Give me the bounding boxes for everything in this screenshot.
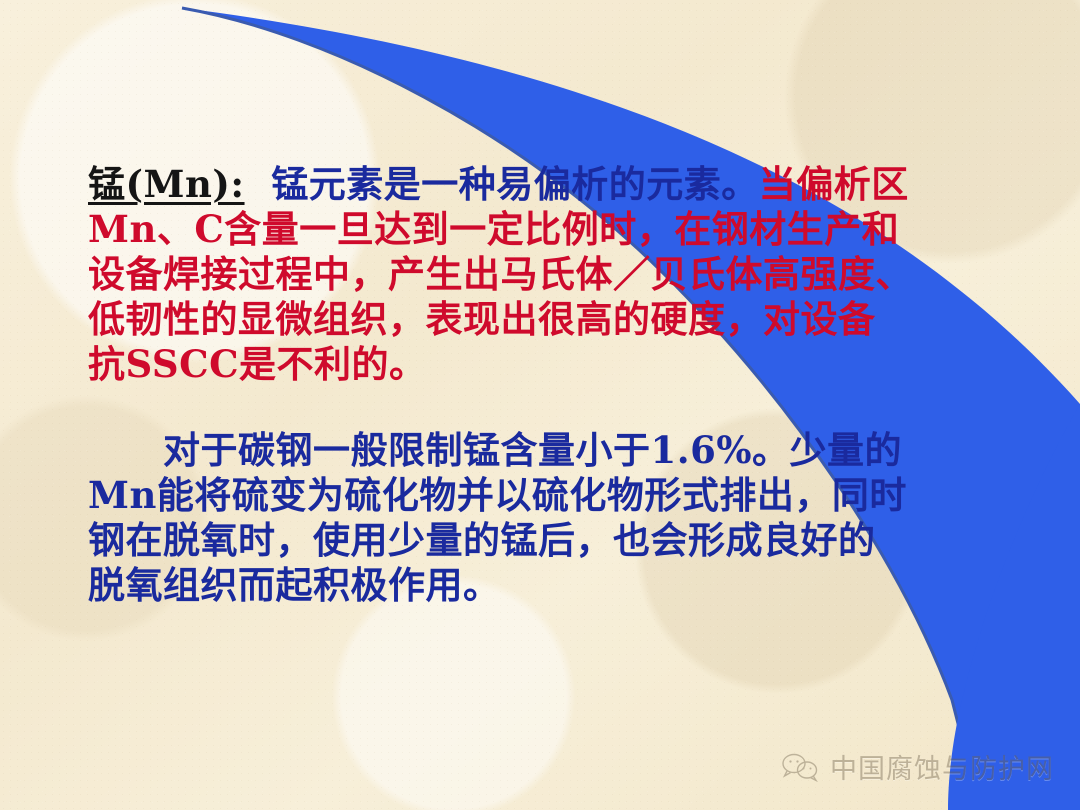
paragraph-manganese-segregation: 锰(Mn): 锰元素是一种易偏析的元素。当偏析区 Mn、C含量一旦达到一定比例时… <box>88 162 1018 387</box>
paragraph-carbon-steel-limit: 对于碳钢一般限制锰含量小于1.6%。少量的 Mn能将硫变为硫化物并以硫化物形式排… <box>88 428 1018 608</box>
watermark-label: 中国腐蚀与防护网 <box>830 747 1054 786</box>
text-segment: 对于碳钢一般限制锰含量小于1.6%。 <box>88 428 790 472</box>
text-segment: 锰元素是一种易偏析的元素。 <box>245 162 759 206</box>
text-segment: 设备焊接过程中，产生出马氏体／贝氏体高强度、 <box>88 252 913 296</box>
text-segment: 当偏析区 <box>759 162 909 206</box>
text-line: 低韧性的显微组织，表现出很高的硬度，对设备 <box>88 297 1018 342</box>
text-segment: Mn能将硫变为硫化物并以硫化物形式排出，同时 <box>88 473 907 517</box>
term-label: 锰(Mn): <box>88 162 245 206</box>
text-line: 设备焊接过程中，产生出马氏体／贝氏体高强度、 <box>88 252 1018 297</box>
text-line: Mn能将硫变为硫化物并以硫化物形式排出，同时 <box>88 473 1018 518</box>
text-segment: 抗SSCC是不利的。 <box>88 342 427 386</box>
slide-text-body: 锰(Mn): 锰元素是一种易偏析的元素。当偏析区 Mn、C含量一旦达到一定比例时… <box>0 0 1080 810</box>
text-segment: Mn、C含量一旦达到一定比例时，在钢材生产和 <box>88 207 899 251</box>
text-segment: 钢在脱氧时，使用少量的锰后，也会形成良好的 <box>88 518 876 562</box>
text-segment: 少量的 <box>790 428 903 472</box>
text-line: 锰(Mn): 锰元素是一种易偏析的元素。当偏析区 <box>88 162 1018 207</box>
text-segment: 脱氧组织而起积极作用。 <box>88 563 501 607</box>
text-line: 脱氧组织而起积极作用。 <box>88 563 1018 608</box>
wechat-icon <box>780 752 820 782</box>
text-segment: 低韧性的显微组织，表现出很高的硬度，对设备 <box>88 297 876 341</box>
text-line: 抗SSCC是不利的。 <box>88 342 1018 387</box>
watermark: 中国腐蚀与防护网 <box>780 747 1054 786</box>
slide-canvas: 锰(Mn): 锰元素是一种易偏析的元素。当偏析区 Mn、C含量一旦达到一定比例时… <box>0 0 1080 810</box>
text-line: Mn、C含量一旦达到一定比例时，在钢材生产和 <box>88 207 1018 252</box>
text-line: 钢在脱氧时，使用少量的锰后，也会形成良好的 <box>88 518 1018 563</box>
text-line: 对于碳钢一般限制锰含量小于1.6%。少量的 <box>88 428 1018 473</box>
